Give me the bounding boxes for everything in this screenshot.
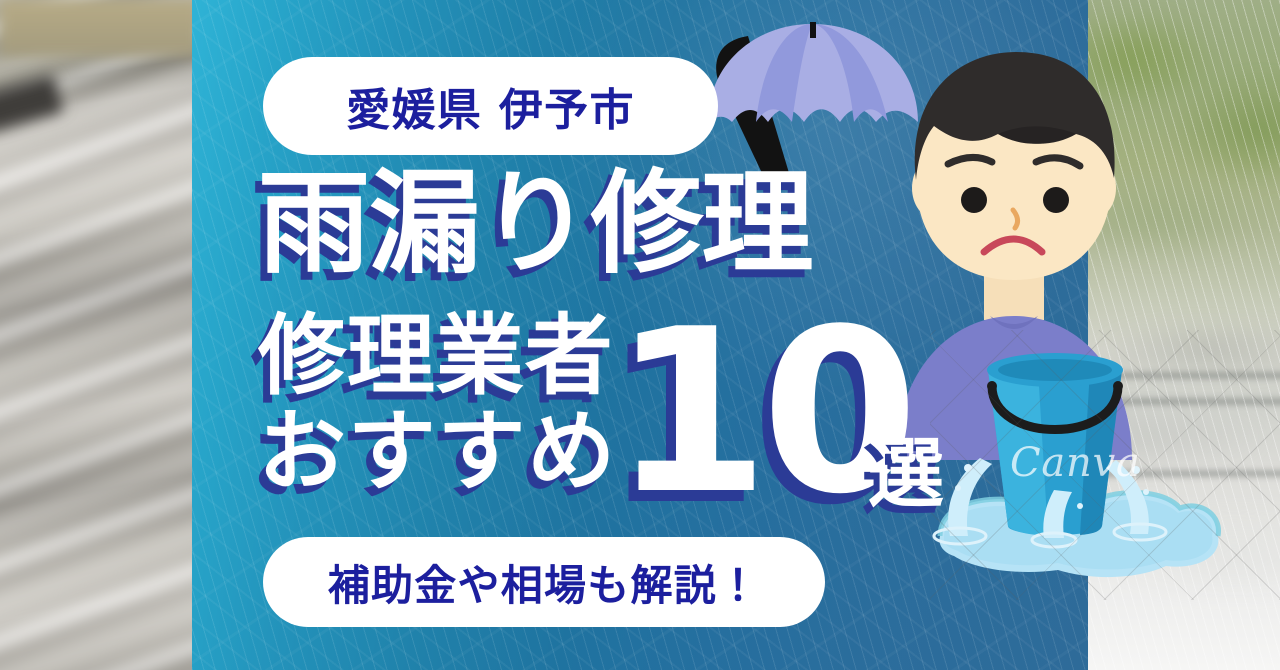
headline-sub-2: おすすめ xyxy=(258,408,617,496)
region-pill: 愛媛県 伊予市 xyxy=(263,57,718,155)
count-suffix: 選 xyxy=(868,436,944,512)
leaking-bucket-icon xyxy=(930,340,1260,590)
headline-main: 雨漏り修理 xyxy=(258,168,812,280)
roof-photo xyxy=(0,0,200,670)
count-number: 10 xyxy=(612,300,911,526)
banner-root: Canva 愛媛県 伊予市 雨漏り修理 修理業者 おすすめ 10 選 補助金や相… xyxy=(0,0,1280,670)
roof-photo-topband xyxy=(0,0,200,56)
footer-pill: 補助金や相場も解説！ xyxy=(263,537,825,627)
headline-sub-1: 修理業者 xyxy=(258,312,614,400)
